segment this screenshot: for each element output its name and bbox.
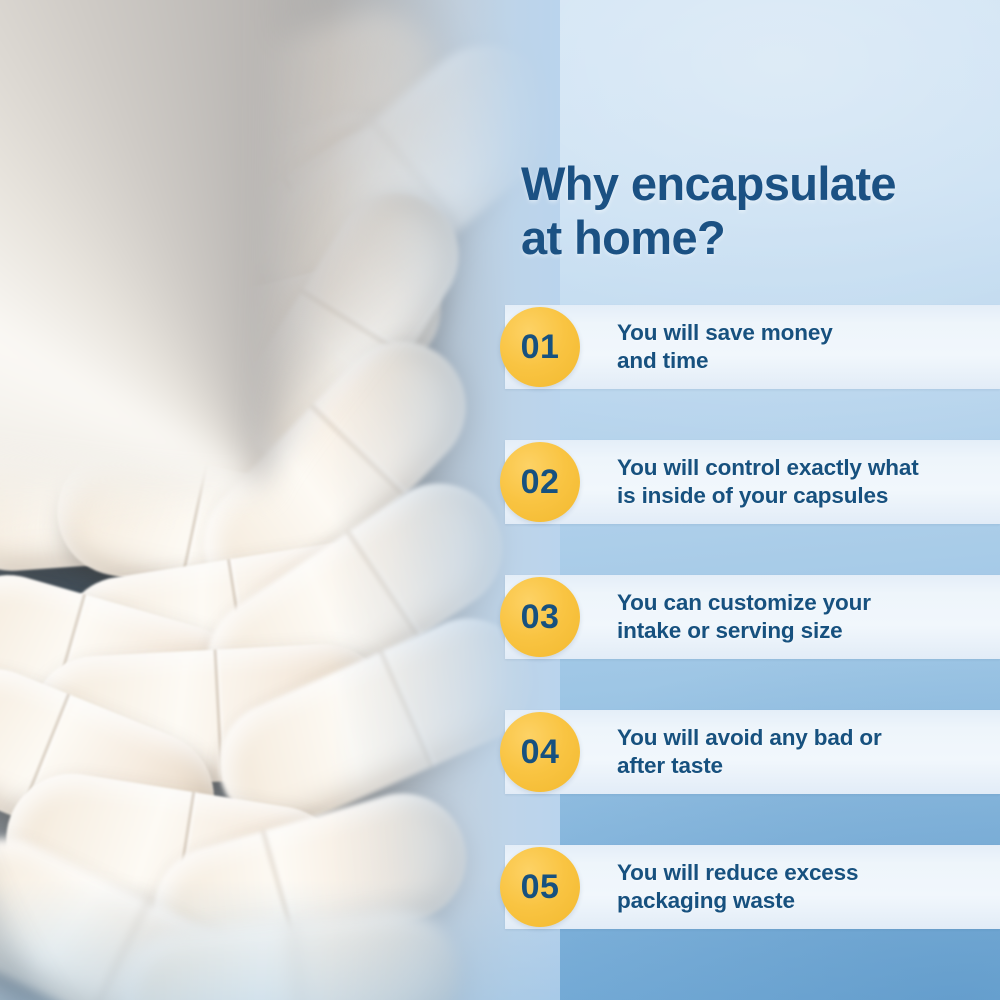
benefit-text-line-2: packaging waste (617, 888, 795, 913)
benefit-row-02: 02 You will control exactly what is insi… (0, 440, 1000, 524)
benefit-text: You will control exactly what is inside … (617, 454, 985, 510)
benefit-text-line-2: and time (617, 348, 708, 373)
benefit-text-line-1: You will avoid any bad or (617, 725, 882, 750)
benefit-text-line-1: You will reduce excess (617, 860, 858, 885)
page-title: Why encapsulate at home? (521, 157, 991, 264)
benefit-text-line-1: You will control exactly what (617, 455, 919, 480)
benefit-text-line-2: intake or serving size (617, 618, 843, 643)
benefits-list: 01 You will save money and time 02 You w… (0, 305, 1000, 980)
benefit-text: You will reduce excess packaging waste (617, 859, 985, 915)
benefit-row-01: 01 You will save money and time (0, 305, 1000, 389)
benefit-text: You can customize your intake or serving… (617, 589, 985, 645)
benefit-row-05: 05 You will reduce excess packaging wast… (0, 845, 1000, 929)
benefit-text: You will avoid any bad or after taste (617, 724, 985, 780)
benefit-text-line-2: after taste (617, 753, 723, 778)
benefit-row-03: 03 You can customize your intake or serv… (0, 575, 1000, 659)
benefit-number-badge: 04 (500, 712, 580, 792)
benefit-text: You will save money and time (617, 319, 985, 375)
benefit-row-04: 04 You will avoid any bad or after taste (0, 710, 1000, 794)
page-title-line-1: Why encapsulate (521, 157, 896, 210)
benefit-text-line-2: is inside of your capsules (617, 483, 888, 508)
benefit-number-badge: 02 (500, 442, 580, 522)
benefit-text-line-1: You can customize your (617, 590, 871, 615)
benefit-number-badge: 01 (500, 307, 580, 387)
benefit-text-line-1: You will save money (617, 320, 833, 345)
page-title-line-2: at home? (521, 211, 725, 264)
benefit-number-badge: 03 (500, 577, 580, 657)
poster-canvas: Why encapsulate at home? 01 You will sav… (0, 0, 1000, 1000)
benefit-number-badge: 05 (500, 847, 580, 927)
